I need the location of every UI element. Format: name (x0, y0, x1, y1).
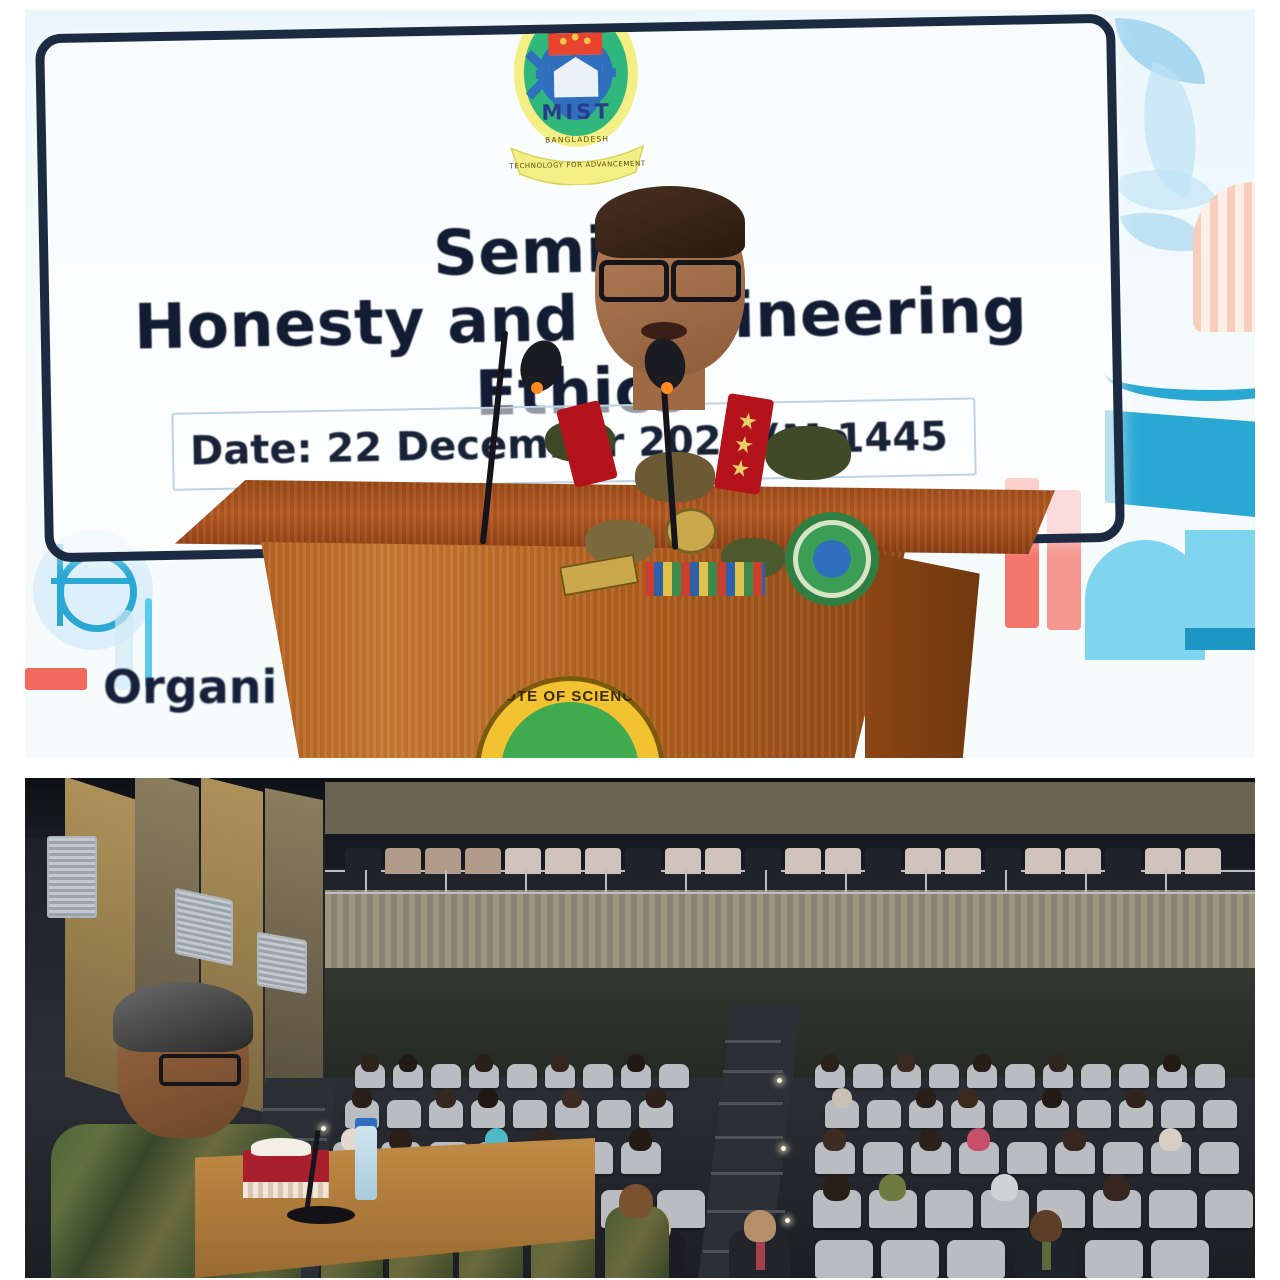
audience-seat (1007, 1142, 1047, 1174)
audience-seat (583, 1064, 613, 1088)
balcony-seat (745, 848, 781, 874)
audience-seat (867, 1100, 901, 1128)
balcony-seat (545, 848, 581, 874)
audience-person (1063, 1128, 1086, 1151)
stair-light (321, 1126, 326, 1131)
audience-person (991, 1174, 1018, 1201)
audience-seat (513, 1100, 547, 1128)
audience-person (399, 1054, 417, 1072)
balcony-seat (585, 848, 621, 874)
balcony-seat (345, 848, 381, 874)
railing-post (765, 870, 767, 892)
microphone-led-left (531, 382, 543, 394)
audience-seat (881, 1240, 939, 1278)
audience-seat (853, 1064, 883, 1088)
audience-person (475, 1054, 493, 1072)
microphone-led-right (661, 382, 673, 394)
audience-seat (1081, 1064, 1111, 1088)
balcony-seat (905, 848, 941, 874)
audience-seat (387, 1100, 421, 1128)
railing-post (525, 870, 527, 892)
guest-necktie (1042, 1242, 1051, 1270)
balcony-seat (785, 848, 821, 874)
audience-seat (947, 1240, 1005, 1278)
seminar-speaker (525, 190, 875, 610)
railing-post (605, 870, 607, 892)
audience-seat (815, 1240, 873, 1278)
audience-seat (1199, 1142, 1239, 1174)
stair-step (723, 1070, 783, 1073)
railing-post (1165, 870, 1167, 892)
balcony-seat (1105, 848, 1141, 874)
audience-seat (659, 1064, 689, 1088)
camo-patch (635, 452, 715, 502)
audience-person (967, 1128, 990, 1151)
stair-light (781, 1146, 786, 1151)
balcony-seat (665, 848, 701, 874)
audience-seat (1119, 1064, 1149, 1088)
balcony-seat (945, 848, 981, 874)
stair-light (785, 1218, 790, 1223)
audience-seat (1195, 1064, 1225, 1088)
svg-text:BANGLADESH: BANGLADESH (545, 134, 609, 144)
audience-person (897, 1054, 915, 1072)
audience-seat (1005, 1064, 1035, 1088)
audience-person (436, 1088, 456, 1108)
audience-person (1159, 1128, 1182, 1151)
audience-person (646, 1088, 666, 1108)
mist-crest-logo: MIST BANGLADESH TECHNOLOGY FOR ADVANCEME… (494, 23, 658, 187)
globe-target-icon (51, 578, 129, 584)
railing-post (365, 870, 367, 892)
balcony-seat (1025, 848, 1061, 874)
audience-seat (597, 1100, 631, 1128)
audience-seat (1085, 1240, 1143, 1278)
railing-post (445, 870, 447, 892)
railing-post (845, 870, 847, 892)
camo-patch (765, 426, 851, 480)
audience-seat (1203, 1100, 1237, 1128)
balcony-seat (505, 848, 541, 874)
audience-person (627, 1054, 645, 1072)
air-vent (175, 888, 233, 966)
balcony-seat (865, 848, 901, 874)
stair-step (707, 1210, 785, 1213)
balcony-seat (625, 848, 661, 874)
balcony-seat (385, 848, 421, 874)
stair-light (777, 1078, 782, 1083)
balcony-seat (1065, 848, 1101, 874)
audience-person (973, 1054, 991, 1072)
stair-step (715, 1136, 783, 1139)
audience-person (1163, 1054, 1181, 1072)
medal-ribbons (645, 562, 765, 596)
balcony-seat (465, 848, 501, 874)
audience-person (823, 1128, 846, 1151)
air-vent (47, 836, 97, 918)
audience-seat (929, 1064, 959, 1088)
podium-seal: TUTE OF SCIENCE AND (475, 676, 665, 758)
stair-step (725, 1040, 781, 1043)
audience-seat (1161, 1100, 1195, 1128)
photo-bottom (25, 778, 1255, 1278)
audience-person (832, 1088, 852, 1108)
audience-seat (993, 1100, 1027, 1128)
water-bottle (355, 1126, 377, 1200)
balcony-seat (1145, 848, 1181, 874)
air-vent (257, 932, 307, 995)
railing-post (685, 870, 687, 892)
audience-person (551, 1054, 569, 1072)
audience-person (352, 1088, 372, 1108)
audience-seat (925, 1190, 973, 1228)
guest-necktie (756, 1242, 765, 1270)
audience-person (1126, 1088, 1146, 1108)
photo-gap (0, 758, 1280, 778)
audience-person (562, 1088, 582, 1108)
photo-top: MIST BANGLADESH TECHNOLOGY FOR ADVANCEME… (25, 10, 1255, 758)
audience-person (879, 1174, 906, 1201)
audience-person (1042, 1088, 1062, 1108)
railing-post (1005, 870, 1007, 892)
stair-step (719, 1102, 783, 1105)
audience-person (361, 1054, 379, 1072)
audience-seat (1077, 1100, 1111, 1128)
balcony-seat (425, 848, 461, 874)
audience-seat (1103, 1142, 1143, 1174)
audience-seat (863, 1142, 903, 1174)
audience-person (958, 1088, 978, 1108)
guest-head (1030, 1210, 1062, 1242)
audience-person (629, 1128, 652, 1151)
graduation-cap-decor (1185, 628, 1255, 650)
balcony-seat (825, 848, 861, 874)
balcony-seat (705, 848, 741, 874)
audience-person (1103, 1174, 1130, 1201)
podium-side (865, 546, 1050, 758)
audience-seat (1205, 1190, 1253, 1228)
gooseneck-microphone-base (287, 1206, 355, 1224)
audience-seat (1151, 1240, 1209, 1278)
guest-head (744, 1210, 776, 1242)
balcony-front-face (325, 890, 1255, 968)
audience-person (919, 1128, 942, 1151)
balcony-seat (985, 848, 1021, 874)
eyeglasses-icon (159, 1054, 241, 1086)
audience-person (478, 1088, 498, 1108)
stair-step (711, 1172, 783, 1175)
audience-person (916, 1088, 936, 1108)
svg-text:MIST: MIST (541, 99, 612, 124)
red-accent-bar (25, 668, 87, 690)
speaker-hair (595, 186, 745, 258)
balcony-seat (1185, 848, 1221, 874)
speaker2-hair (113, 982, 253, 1052)
audience-seat (507, 1064, 537, 1088)
audience-person (1049, 1054, 1067, 1072)
audience-person (821, 1054, 839, 1072)
collage-root: MIST BANGLADESH TECHNOLOGY FOR ADVANCEME… (0, 0, 1280, 1280)
audience-seat (431, 1064, 461, 1088)
audience-seat (1149, 1190, 1197, 1228)
railing-post (925, 870, 927, 892)
audience-person (823, 1174, 850, 1201)
eyeglasses-icon (599, 260, 741, 294)
railing-post (1085, 870, 1087, 892)
mist-unit-patch (793, 520, 871, 598)
near-officer-head (619, 1184, 653, 1218)
